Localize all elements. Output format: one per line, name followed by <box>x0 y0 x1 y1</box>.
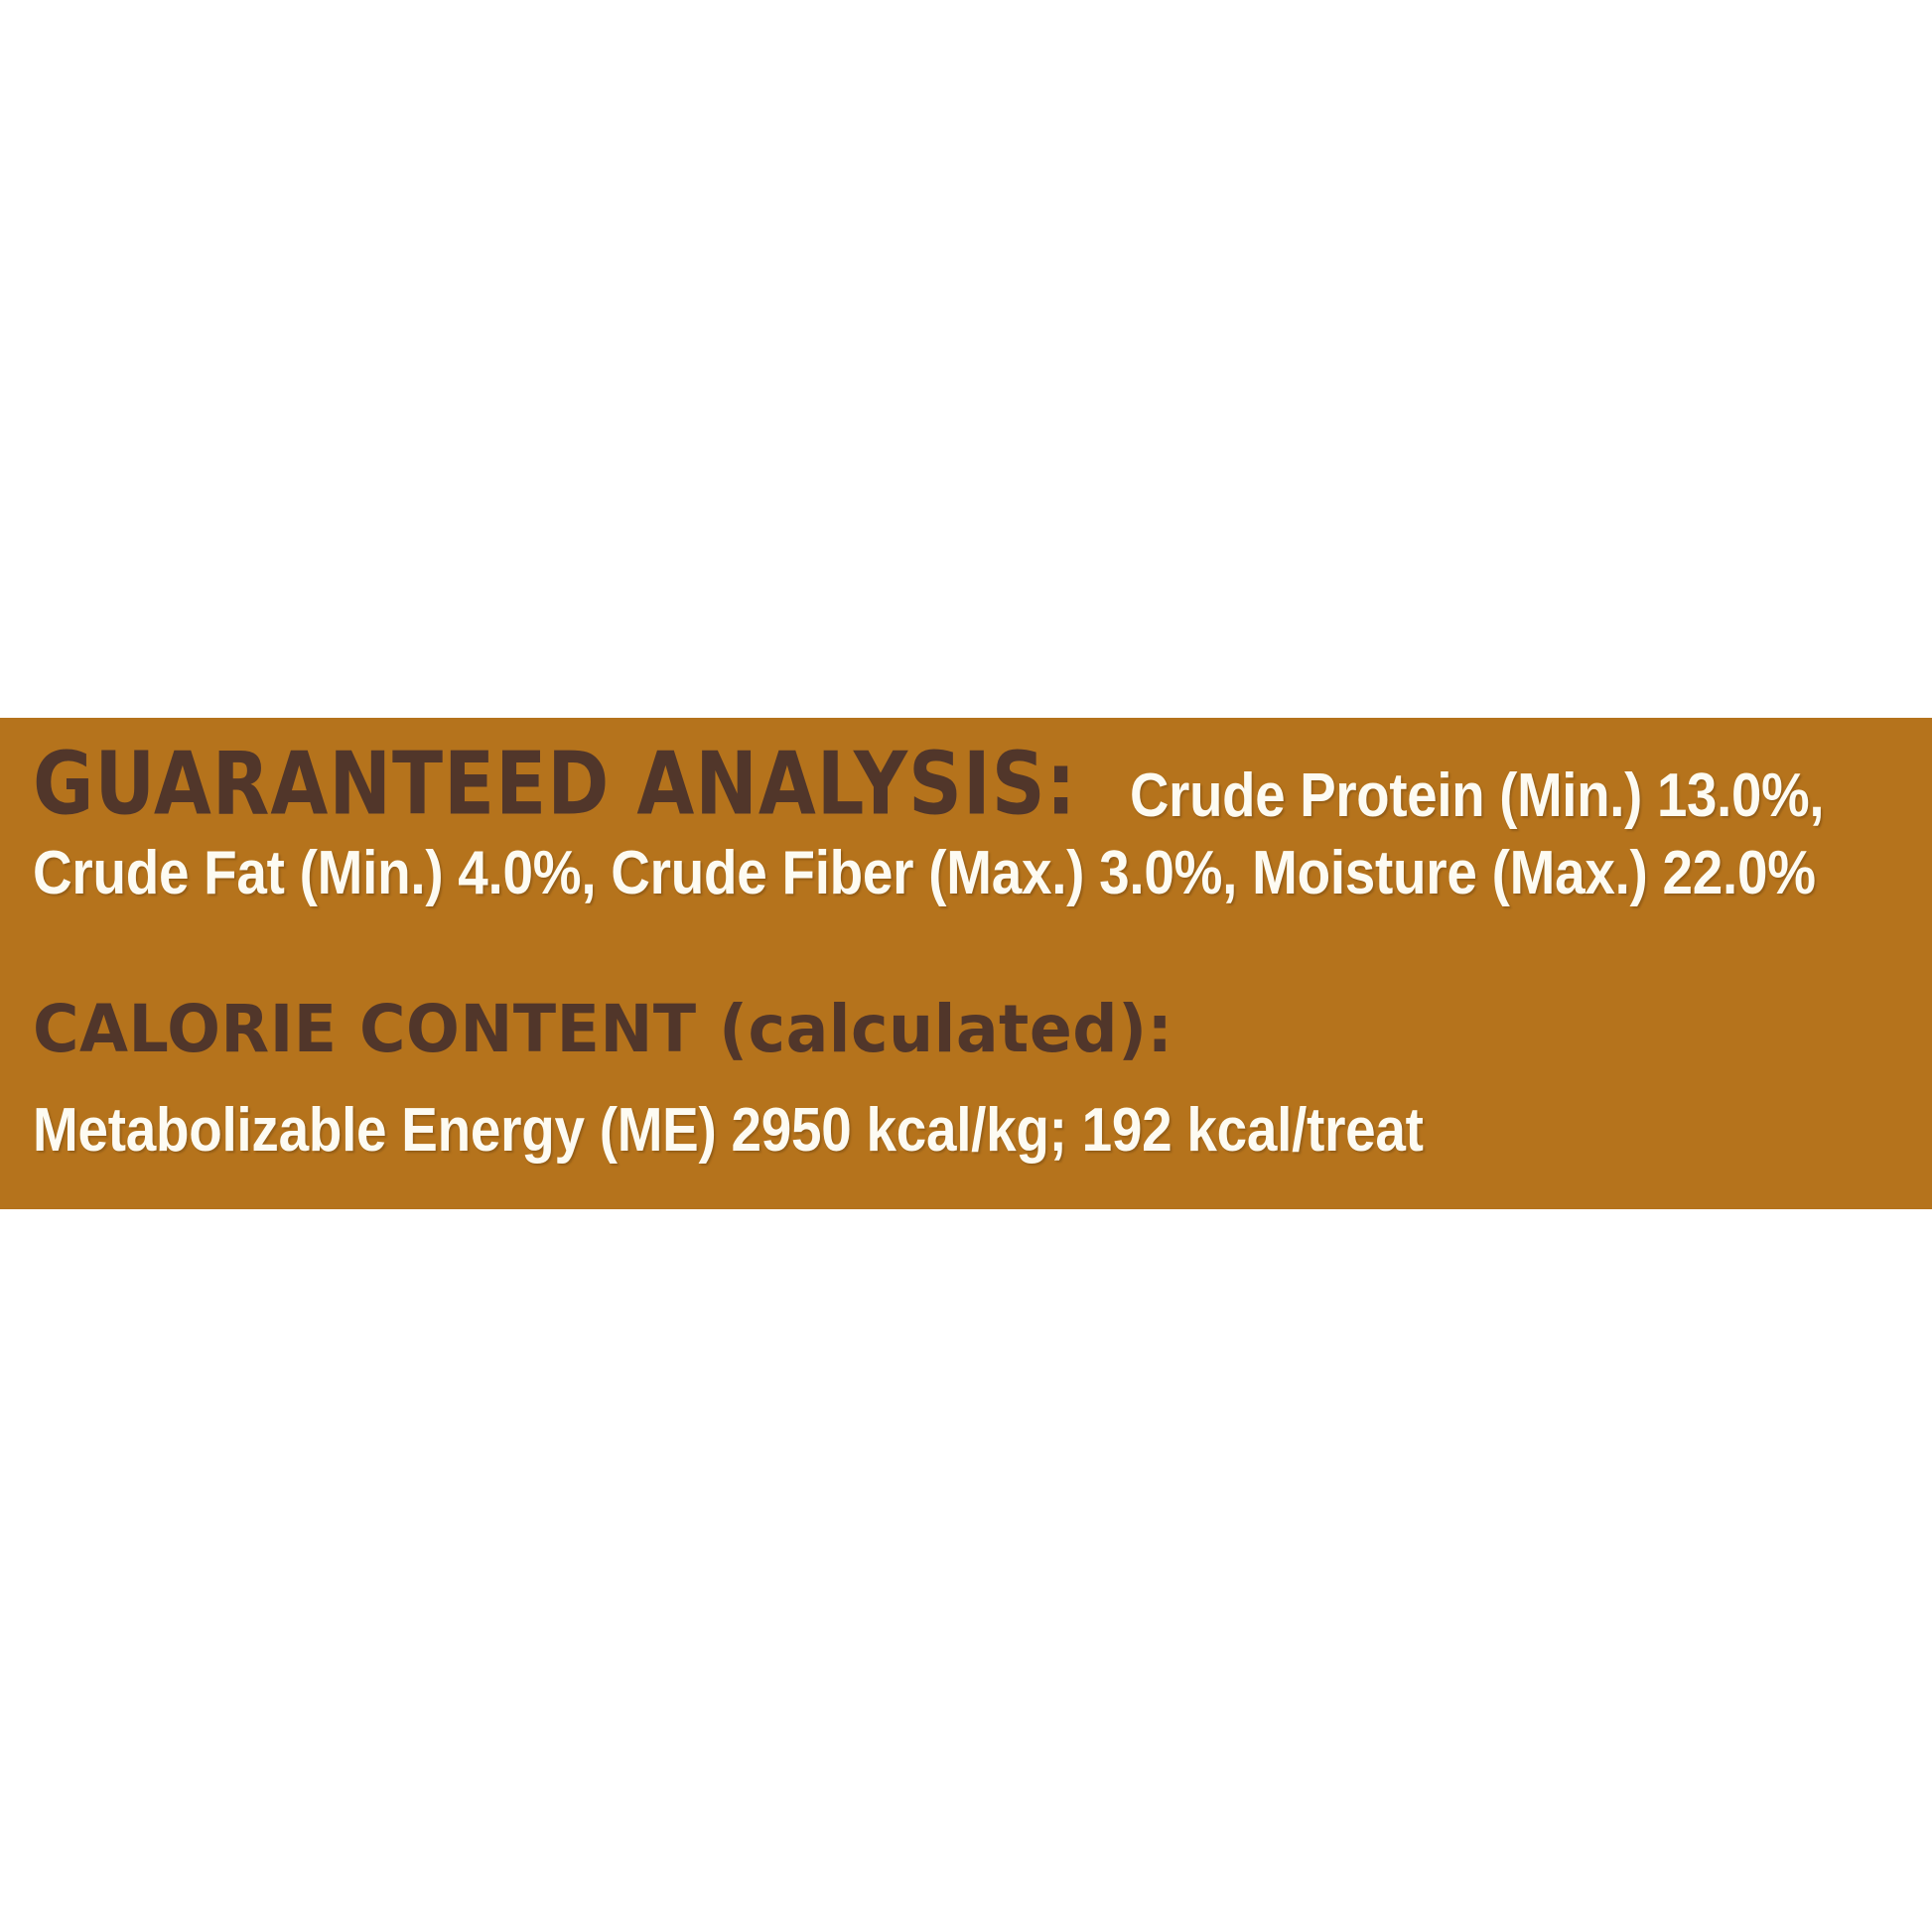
guaranteed-analysis-values-line-1: Crude Protein (Min.) 13.0%, <box>1130 763 1824 829</box>
calorie-content-heading: CALORIE CONTENT (calculated): <box>33 991 1173 1068</box>
calorie-content-values: Metabolizable Energy (ME) 2950 kcal/kg; … <box>33 1094 1424 1168</box>
guaranteed-analysis-heading: GUARANTEED ANALYSIS: <box>33 735 1077 835</box>
nutrition-info-band: GUARANTEED ANALYSIS: Crude Protein (Min.… <box>0 718 1932 1209</box>
pet-food-label-panel: GUARANTEED ANALYSIS: Crude Protein (Min.… <box>0 0 1932 1932</box>
guaranteed-analysis-values-line-2: Crude Fat (Min.) 4.0%, Crude Fiber (Max.… <box>33 837 1694 916</box>
guaranteed-analysis-first-line: GUARANTEED ANALYSIS: Crude Protein (Min.… <box>33 740 1909 835</box>
